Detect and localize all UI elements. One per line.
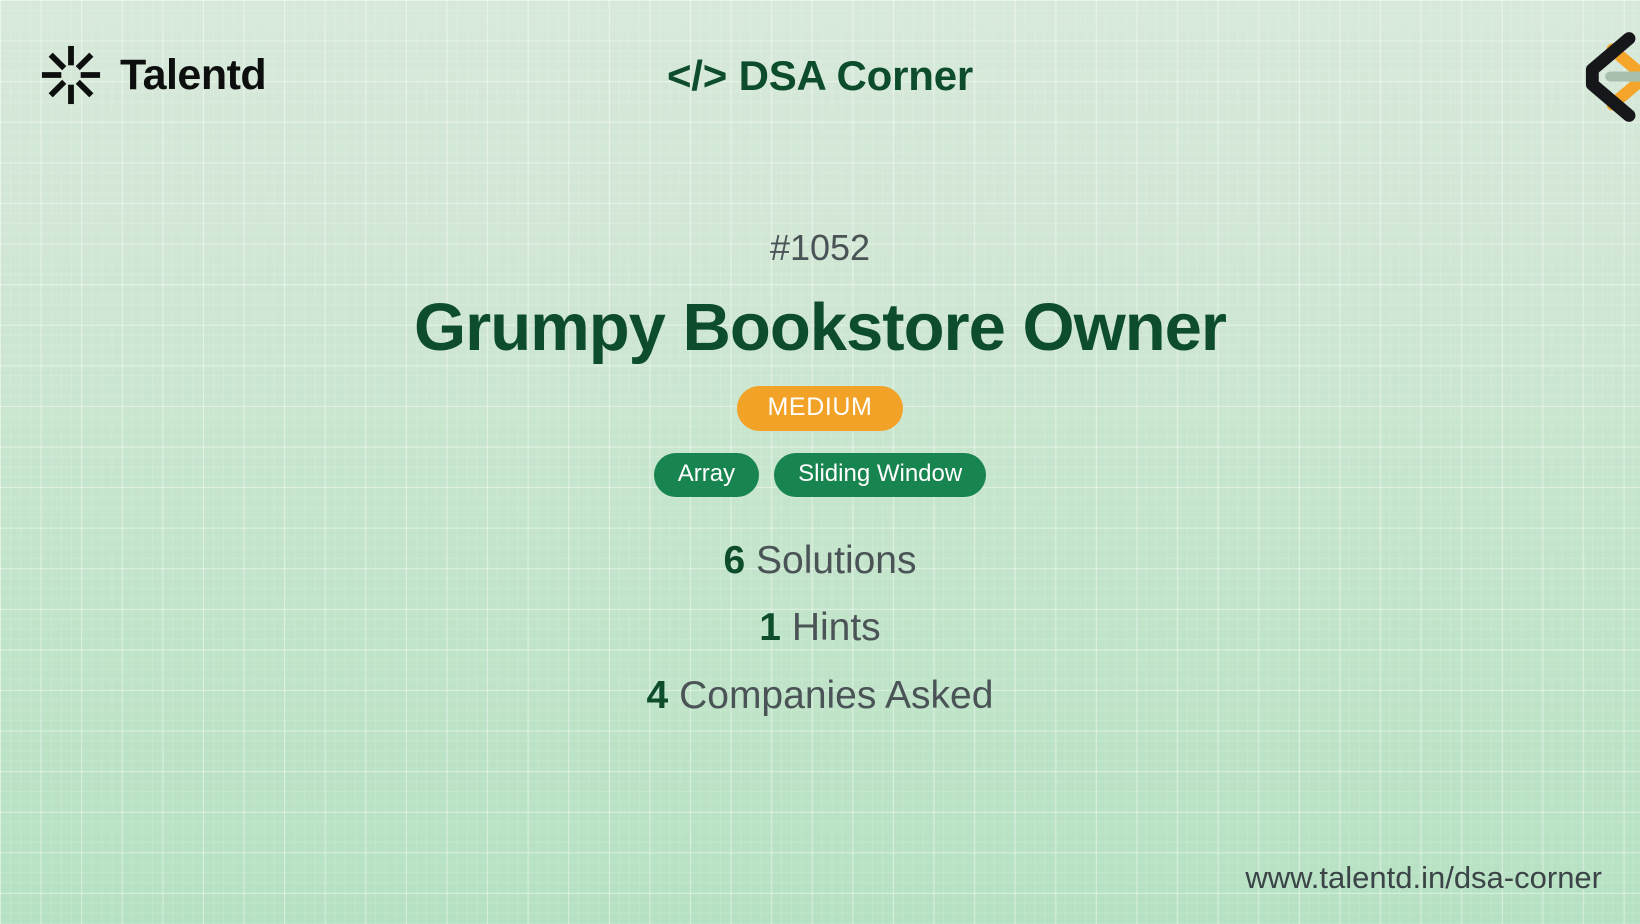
difficulty-badge: MEDIUM xyxy=(737,386,904,431)
header: Talentd </> DSA Corner xyxy=(0,0,1640,158)
stat-row-solutions: 6 Solutions xyxy=(647,527,994,594)
stat-label: Solutions xyxy=(756,539,916,582)
chevron-bracket-logo-icon xyxy=(1552,22,1640,132)
problem-number: #1052 xyxy=(770,230,870,266)
code-glyph-icon: </> xyxy=(667,52,727,99)
dsa-problem-card: Talentd </> DSA Corner #1052 Grumpy Book… xyxy=(0,0,1640,924)
stat-row-companies: 4 Companies Asked xyxy=(647,662,994,729)
stat-label: Hints xyxy=(792,606,881,649)
page-title-text: DSA Corner xyxy=(739,52,973,99)
stat-value: 6 xyxy=(724,539,746,582)
main-content: #1052 Grumpy Bookstore Owner MEDIUM Arra… xyxy=(0,160,1640,729)
stats-list: 6 Solutions 1 Hints 4 Companies Asked xyxy=(647,527,994,728)
problem-title: Grumpy Bookstore Owner xyxy=(414,292,1226,364)
stat-value: 1 xyxy=(759,606,781,649)
stat-row-hints: 1 Hints xyxy=(647,594,994,661)
tag-list: Array Sliding Window xyxy=(654,453,986,497)
stat-value: 4 xyxy=(647,674,669,717)
footer-url[interactable]: www.talentd.in/dsa-corner xyxy=(1245,860,1602,896)
tag-chip[interactable]: Array xyxy=(654,453,759,497)
page-title: </> DSA Corner xyxy=(0,52,1640,100)
tag-chip[interactable]: Sliding Window xyxy=(774,453,986,497)
stat-label: Companies Asked xyxy=(679,674,993,717)
